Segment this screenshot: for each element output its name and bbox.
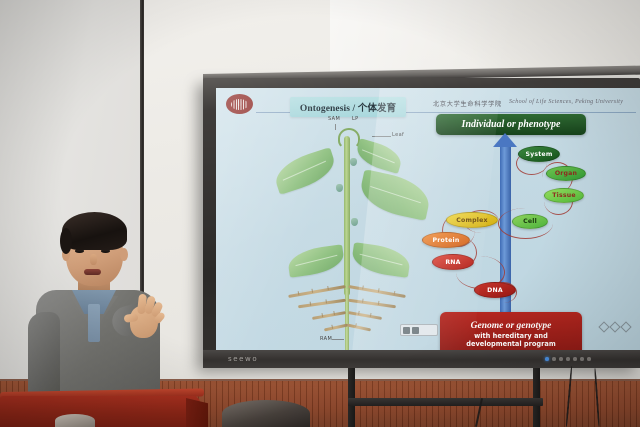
presenter-mouth [84, 269, 101, 275]
presenter-shirt-placket [88, 304, 100, 342]
lateral-root-1 [288, 285, 346, 298]
control-button-6[interactable] [587, 357, 591, 361]
node-organ: Organ [546, 166, 586, 181]
control-button-5[interactable] [580, 357, 584, 361]
leaf-upper-right [354, 138, 405, 174]
presenter-nose [90, 254, 97, 265]
audience-member-shoulder [55, 414, 95, 427]
node-organ-label: Organ [555, 170, 577, 177]
grid-icon[interactable] [412, 327, 419, 334]
node-rna: RNA [432, 254, 474, 270]
institution-name-en: School of Life Sciences, Peking Universi… [509, 99, 623, 105]
hierarchy-diagram: Individual or phenotype System [412, 116, 638, 342]
presenter-ear-right [120, 248, 128, 261]
node-cell-label: Cell [523, 218, 537, 225]
label-ram: RAM [320, 336, 332, 342]
eraser-icon[interactable] [620, 321, 631, 332]
presentation-slide: Ontogenesis / 个体发育 北京大学生命科学学院 School of … [216, 88, 640, 350]
institution-name-cn: 北京大学生命科学学院 [433, 99, 502, 108]
leaf-lower-right [350, 242, 411, 278]
node-dna: DNA [474, 282, 516, 298]
node-complex: Complex [446, 212, 498, 228]
peking-university-seal-icon [226, 94, 253, 114]
node-rna-label: RNA [445, 259, 460, 266]
lateral-root-3 [298, 299, 346, 309]
genome-genotype-line3: developmental program [466, 340, 555, 348]
control-button-3[interactable] [566, 357, 570, 361]
display-brand-logo: seewo [228, 355, 258, 363]
display-screen[interactable]: Ontogenesis / 个体发育 北京大学生命科学学院 School of … [216, 88, 640, 350]
axillary-bud-mid [336, 184, 343, 192]
sam-leader-line [335, 124, 336, 130]
genome-genotype-box: Genome or genotype with hereditary and d… [440, 312, 582, 350]
label-lp: LP [352, 116, 359, 122]
slide-title: Ontogenesis / 个体发育 [300, 100, 396, 114]
control-button-4[interactable] [573, 357, 577, 361]
lateral-root-6 [348, 311, 382, 320]
presenter-hair [62, 212, 127, 250]
lectern-podium [0, 396, 200, 427]
node-protein: Protein [422, 232, 470, 248]
lateral-root-8 [347, 324, 371, 332]
lateral-root-2 [348, 285, 406, 298]
individual-phenotype-box: Individual or phenotype [436, 114, 586, 135]
control-button-2[interactable] [559, 357, 563, 361]
node-protein-label: Protein [433, 237, 460, 244]
genome-genotype-line2: with hereditary and [474, 332, 548, 340]
node-complex-label: Complex [456, 217, 487, 224]
leaf-upper-left [271, 147, 339, 195]
scene: Ontogenesis / 个体发育 北京大学生命科学学院 School of … [0, 0, 640, 427]
axillary-bud-lower [351, 218, 358, 226]
control-button-1[interactable] [552, 357, 556, 361]
audience-member-head [222, 400, 310, 427]
display-control-buttons[interactable] [545, 357, 591, 361]
label-leaf: Leaf [392, 132, 404, 138]
annotation-toolbar[interactable] [600, 321, 636, 332]
individual-phenotype-label: Individual or phenotype [462, 119, 561, 130]
presenter-gesturing-hand [124, 294, 162, 340]
node-tissue: Tissue [544, 188, 584, 203]
node-system: System [518, 146, 560, 162]
slide-toolbar[interactable] [400, 324, 438, 336]
leaf-leader-line [372, 136, 391, 137]
leaf-lower-left [286, 244, 345, 278]
label-sam: SAM [328, 116, 340, 122]
genome-genotype-title: Genome or genotype [471, 321, 552, 332]
node-tissue-label: Tissue [552, 192, 576, 199]
ram-leader-line [332, 339, 344, 340]
node-dna-label: DNA [487, 287, 503, 294]
plant-illustration: SAM LP Leaf [268, 114, 428, 342]
node-system-label: System [526, 151, 553, 158]
lateral-root-4 [348, 299, 396, 309]
display-stand-shelf [348, 398, 543, 406]
stamp-icon[interactable] [403, 327, 410, 334]
axillary-bud-upper [350, 158, 357, 166]
power-led-indicator [545, 357, 549, 361]
node-cell: Cell [512, 214, 548, 229]
lateral-root-5 [312, 311, 346, 320]
